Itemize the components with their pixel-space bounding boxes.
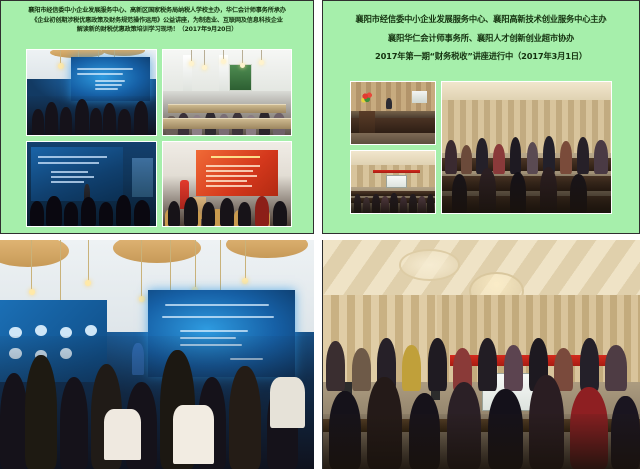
poster-right-large-column bbox=[441, 81, 612, 214]
poster-left-heading-line-2: 《企业初创期涉税优惠政策及财务规范操作运用》公益讲座，为制造业、互联网及信息科技… bbox=[9, 16, 305, 26]
photo-red-screen-room bbox=[162, 141, 293, 228]
poster-left-heading: 襄阳市经信委中小企业发展服务中心、高新区国家税务局纳税人学校主办，华仁会计师事务… bbox=[1, 1, 313, 37]
photo-blue-room bbox=[26, 49, 157, 136]
top-poster-row: 襄阳市经信委中小企业发展服务中心、高新区国家税务局纳税人学校主办，华仁会计师事务… bbox=[0, 0, 640, 234]
bottom-photo-row bbox=[0, 240, 640, 469]
poster-right-heading-line-2: 襄阳华仁会计师事务所、襄阳人才创新创业超市协办 bbox=[331, 29, 631, 48]
photo-classroom bbox=[162, 49, 293, 136]
poster-top-left: 襄阳市经信委中小企业发展服务中心、高新区国家税务局纳税人学校主办，华仁会计师事务… bbox=[0, 0, 314, 234]
photo-large-auditorium bbox=[322, 240, 640, 469]
poster-right-small-column bbox=[350, 81, 436, 214]
poster-right-heading-line-3: 2017年第一期“财务税收”讲座进行中（2017年3月1日） bbox=[331, 47, 631, 66]
poster-right-heading: 襄阳市经信委中小企业发展服务中心、襄阳高新技术创业服务中心主办 襄阳华仁会计师事… bbox=[323, 1, 639, 68]
photo-large-blue-hall bbox=[0, 240, 314, 469]
poster-right-photo-grid bbox=[350, 81, 612, 214]
photo-auditorium-large bbox=[441, 81, 612, 214]
poster-collage-page: 襄阳市经信委中小企业发展服务中心、高新区国家税务局纳税人学校主办，华仁会计师事务… bbox=[0, 0, 640, 469]
poster-left-heading-line-1: 襄阳市经信委中小企业发展服务中心、高新区国家税务局纳税人学校主办，华仁会计师事务… bbox=[9, 6, 305, 16]
photo-dark-blue-slide bbox=[26, 141, 157, 228]
poster-left-heading-line-3: 解读新的财税优惠政策培训学习现场！（2017年9月20日） bbox=[9, 25, 305, 35]
poster-left-photo-grid bbox=[26, 49, 292, 227]
photo-podium-flowers bbox=[350, 81, 436, 145]
poster-top-right: 襄阳市经信委中小企业发展服务中心、襄阳高新技术创业服务中心主办 襄阳华仁会计师事… bbox=[322, 0, 640, 234]
photo-auditorium-small bbox=[350, 150, 436, 214]
poster-right-heading-line-1: 襄阳市经信委中小企业发展服务中心、襄阳高新技术创业服务中心主办 bbox=[331, 10, 631, 29]
